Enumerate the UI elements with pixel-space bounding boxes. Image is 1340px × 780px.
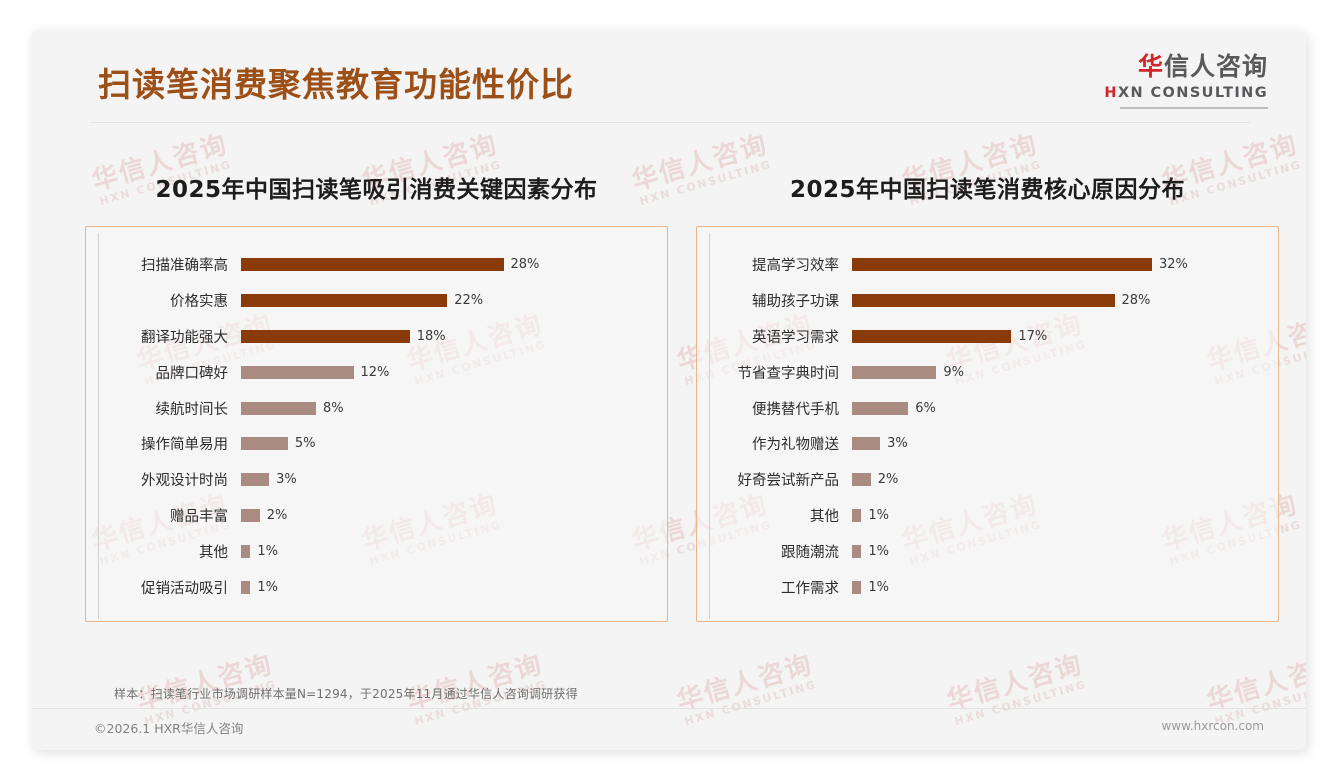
bar-fill bbox=[852, 545, 861, 558]
bar-row: 英语学习需求17% bbox=[709, 320, 1266, 352]
bar-row: 辅助孩子功课28% bbox=[709, 285, 1266, 317]
bar-fill bbox=[241, 437, 288, 450]
bar-category-label: 续航时间长 bbox=[98, 398, 241, 419]
bar-value-label: 28% bbox=[1122, 293, 1151, 308]
bar-value-label: 1% bbox=[868, 508, 889, 523]
bar-fill bbox=[852, 509, 861, 522]
bar-track: 3% bbox=[241, 472, 655, 487]
bar-track: 3% bbox=[852, 436, 1266, 451]
bar-category-label: 好奇尝试新产品 bbox=[709, 469, 852, 490]
bar-value-label: 5% bbox=[295, 436, 316, 451]
logo-h-char: H bbox=[1104, 85, 1118, 101]
bar-value-label: 3% bbox=[887, 436, 908, 451]
bar-row: 节省查字典时间9% bbox=[709, 356, 1266, 388]
bar-row: 其他1% bbox=[709, 499, 1266, 531]
bar-category-label: 外观设计时尚 bbox=[98, 469, 241, 490]
bar-row: 扫描准确率高28% bbox=[98, 249, 655, 281]
charts-row: 2025年中国扫读笔吸引消费关键因素分布 扫描准确率高28%价格实惠22%翻译功… bbox=[32, 170, 1306, 680]
bar-value-label: 32% bbox=[1159, 257, 1188, 272]
bar-value-label: 9% bbox=[943, 365, 964, 380]
bar-fill bbox=[852, 294, 1115, 307]
bar-category-label: 便携替代手机 bbox=[709, 398, 852, 419]
bar-track: 28% bbox=[852, 293, 1266, 308]
bar-category-label: 其他 bbox=[98, 541, 241, 562]
watermark-en: HXN CONSULTING bbox=[952, 678, 1090, 729]
footer-divider bbox=[32, 708, 1306, 709]
bar-category-label: 促销活动吸引 bbox=[98, 577, 241, 598]
bar-track: 1% bbox=[852, 508, 1266, 523]
bar-track: 1% bbox=[852, 544, 1266, 559]
bar-track: 2% bbox=[241, 508, 655, 523]
chart-panel-left: 扫描准确率高28%价格实惠22%翻译功能强大18%品牌口碑好12%续航时间长8%… bbox=[85, 226, 668, 622]
bar-row: 翻译功能强大18% bbox=[98, 320, 655, 352]
bar-category-label: 翻译功能强大 bbox=[98, 326, 241, 347]
bar-fill bbox=[852, 258, 1152, 271]
logo-chinese-text: 华信人咨询 bbox=[1104, 54, 1268, 79]
bar-fill bbox=[241, 366, 354, 379]
bar-rows-left: 扫描准确率高28%价格实惠22%翻译功能强大18%品牌口碑好12%续航时间长8%… bbox=[98, 247, 655, 605]
bar-fill bbox=[241, 473, 269, 486]
bar-row: 品牌口碑好12% bbox=[98, 356, 655, 388]
source-note: 样本：扫读笔行业市场调研样本量N=1294，于2025年11月通过华信人咨询调研… bbox=[114, 685, 578, 702]
bar-row: 便携替代手机6% bbox=[709, 392, 1266, 424]
slide-card: 华信人咨询HXN CONSULTING华信人咨询HXN CONSULTING华信… bbox=[32, 30, 1306, 750]
chart-title-right: 2025年中国扫读笔消费核心原因分布 bbox=[696, 170, 1279, 204]
bar-value-label: 1% bbox=[257, 544, 278, 559]
bar-row: 工作需求1% bbox=[709, 571, 1266, 603]
bar-fill bbox=[852, 366, 936, 379]
bar-track: 18% bbox=[241, 329, 655, 344]
bar-row: 外观设计时尚3% bbox=[98, 464, 655, 496]
bar-category-label: 工作需求 bbox=[709, 577, 852, 598]
bar-category-label: 节省查字典时间 bbox=[709, 362, 852, 383]
page-title: 扫读笔消费聚焦教育功能性价比 bbox=[98, 58, 574, 106]
logo-en-rest: XN CONSULTING bbox=[1118, 85, 1268, 101]
bar-fill bbox=[241, 545, 250, 558]
bar-row: 赠品丰富2% bbox=[98, 499, 655, 531]
bar-category-label: 赠品丰富 bbox=[98, 505, 241, 526]
bar-track: 6% bbox=[852, 401, 1266, 416]
bar-track: 22% bbox=[241, 293, 655, 308]
bar-category-label: 跟随潮流 bbox=[709, 541, 852, 562]
bar-value-label: 18% bbox=[417, 329, 446, 344]
bar-row: 续航时间长8% bbox=[98, 392, 655, 424]
logo-underline-rule bbox=[1120, 107, 1268, 109]
bar-row: 提高学习效率32% bbox=[709, 249, 1266, 281]
bar-category-label: 提高学习效率 bbox=[709, 254, 852, 275]
bar-category-label: 扫描准确率高 bbox=[98, 254, 241, 275]
bar-category-label: 作为礼物赠送 bbox=[709, 433, 852, 454]
logo-cn-rest: 信人咨询 bbox=[1164, 52, 1268, 81]
bar-track: 2% bbox=[852, 472, 1266, 487]
bar-category-label: 品牌口碑好 bbox=[98, 362, 241, 383]
bar-fill bbox=[241, 509, 260, 522]
bar-row: 价格实惠22% bbox=[98, 285, 655, 317]
bar-category-label: 其他 bbox=[709, 505, 852, 526]
bar-category-label: 价格实惠 bbox=[98, 290, 241, 311]
chart-title-left: 2025年中国扫读笔吸引消费关键因素分布 bbox=[85, 170, 668, 204]
bar-fill bbox=[241, 330, 410, 343]
brand-logo: 华信人咨询 HXN CONSULTING bbox=[1104, 54, 1268, 109]
bar-fill bbox=[852, 402, 908, 415]
slide-header: 扫读笔消费聚焦教育功能性价比 华信人咨询 HXN CONSULTING bbox=[32, 30, 1306, 123]
footer-website[interactable]: www.hxrcon.com bbox=[1161, 719, 1264, 733]
bar-fill bbox=[852, 473, 871, 486]
footer-copyright: ©2026.1 HXR华信人咨询 bbox=[94, 718, 243, 737]
bar-rows-right: 提高学习效率32%辅助孩子功课28%英语学习需求17%节省查字典时间9%便携替代… bbox=[709, 247, 1266, 605]
bar-fill bbox=[852, 581, 861, 594]
bar-value-label: 12% bbox=[361, 365, 390, 380]
watermark-en: HXN CONSULTING bbox=[682, 678, 820, 729]
bar-track: 32% bbox=[852, 257, 1266, 272]
bar-track: 12% bbox=[241, 365, 655, 380]
bar-value-label: 1% bbox=[257, 580, 278, 595]
bar-value-label: 1% bbox=[868, 544, 889, 559]
bar-fill bbox=[852, 330, 1011, 343]
bar-value-label: 6% bbox=[915, 401, 936, 416]
bar-fill bbox=[241, 294, 447, 307]
bar-value-label: 3% bbox=[276, 472, 297, 487]
bar-category-label: 英语学习需求 bbox=[709, 326, 852, 347]
bar-fill bbox=[241, 581, 250, 594]
header-divider bbox=[90, 122, 1250, 123]
bar-value-label: 1% bbox=[868, 580, 889, 595]
bar-track: 8% bbox=[241, 401, 655, 416]
bar-row: 操作简单易用5% bbox=[98, 428, 655, 460]
bar-row: 跟随潮流1% bbox=[709, 535, 1266, 567]
logo-hua-char: 华 bbox=[1138, 52, 1164, 81]
chart-block-left: 2025年中国扫读笔吸引消费关键因素分布 扫描准确率高28%价格实惠22%翻译功… bbox=[85, 170, 668, 622]
bar-row: 其他1% bbox=[98, 535, 655, 567]
bar-value-label: 22% bbox=[454, 293, 483, 308]
bar-value-label: 8% bbox=[323, 401, 344, 416]
bar-track: 1% bbox=[241, 580, 655, 595]
bar-fill bbox=[241, 258, 504, 271]
bar-track: 28% bbox=[241, 257, 655, 272]
bar-value-label: 2% bbox=[267, 508, 288, 523]
bar-value-label: 28% bbox=[511, 257, 540, 272]
bar-value-label: 17% bbox=[1018, 329, 1047, 344]
chart-block-right: 2025年中国扫读笔消费核心原因分布 提高学习效率32%辅助孩子功课28%英语学… bbox=[696, 170, 1279, 622]
bar-track: 5% bbox=[241, 436, 655, 451]
bar-row: 促销活动吸引1% bbox=[98, 571, 655, 603]
bar-track: 9% bbox=[852, 365, 1266, 380]
logo-english-text: HXN CONSULTING bbox=[1104, 86, 1268, 101]
bar-value-label: 2% bbox=[878, 472, 899, 487]
bar-track: 17% bbox=[852, 329, 1266, 344]
bar-row: 作为礼物赠送3% bbox=[709, 428, 1266, 460]
chart-panel-right: 提高学习效率32%辅助孩子功课28%英语学习需求17%节省查字典时间9%便携替代… bbox=[696, 226, 1279, 622]
bar-fill bbox=[852, 437, 880, 450]
bar-track: 1% bbox=[852, 580, 1266, 595]
bar-fill bbox=[241, 402, 316, 415]
bar-row: 好奇尝试新产品2% bbox=[709, 464, 1266, 496]
bar-category-label: 操作简单易用 bbox=[98, 433, 241, 454]
bar-track: 1% bbox=[241, 544, 655, 559]
bar-category-label: 辅助孩子功课 bbox=[709, 290, 852, 311]
